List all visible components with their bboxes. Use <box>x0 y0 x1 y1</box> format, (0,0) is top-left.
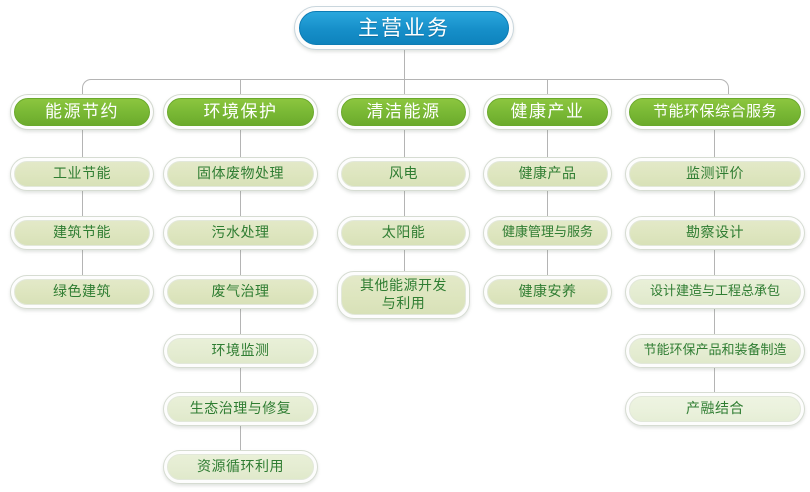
connector-root-stem <box>404 50 405 80</box>
connector-col-5-link-4 <box>714 308 715 335</box>
leaf-node-label: 固体废物处理 <box>167 161 314 187</box>
connector-col-1-link-1 <box>82 130 83 157</box>
root-node-main-business[interactable]: 主营业务 <box>294 6 514 50</box>
leaf-node-wind-power[interactable]: 风电 <box>337 157 470 191</box>
leaf-node-label: 其他能源开发 与利用 <box>341 275 466 315</box>
connector-col-1-link-3 <box>82 250 83 276</box>
connector-col-2-link-3 <box>240 250 241 276</box>
category-header-environment-protection[interactable]: 环境保护 <box>163 94 318 130</box>
leaf-node-label: 健康管理与服务 <box>487 220 608 246</box>
leaf-node-industrial-energy-saving[interactable]: 工业节能 <box>10 157 154 191</box>
leaf-node-health-management-service[interactable]: 健康管理与服务 <box>483 216 612 250</box>
connector-col-5-link-1 <box>714 130 715 157</box>
connector-col-5-link-3 <box>714 250 715 276</box>
connector-col-3-link-1 <box>404 130 405 157</box>
leaf-node-resource-recycling[interactable]: 资源循环利用 <box>163 450 318 484</box>
leaf-node-label: 绿色建筑 <box>14 279 150 305</box>
leaf-node-label: 资源循环利用 <box>167 454 314 480</box>
leaf-node-label: 节能环保产品和装备制造 <box>629 338 801 364</box>
connector-col-5-link-5 <box>714 366 715 393</box>
category-header-label: 环境保护 <box>167 98 314 126</box>
connector-col-1-link-2 <box>82 191 83 217</box>
category-header-label: 健康产业 <box>487 98 608 126</box>
leaf-node-ecological-restoration[interactable]: 生态治理与修复 <box>163 392 318 426</box>
leaf-node-label: 风电 <box>341 161 466 187</box>
leaf-node-solid-waste-treatment[interactable]: 固体废物处理 <box>163 157 318 191</box>
category-header-comprehensive-service[interactable]: 节能环保综合服务 <box>625 94 805 130</box>
connector-col-2-link-4 <box>240 308 241 335</box>
category-header-health-industry[interactable]: 健康产业 <box>483 94 612 130</box>
leaf-node-label: 污水处理 <box>167 220 314 246</box>
leaf-node-label: 健康安养 <box>487 279 608 305</box>
leaf-node-label: 监测评价 <box>629 161 801 187</box>
leaf-node-label: 建筑节能 <box>14 220 150 246</box>
category-header-label: 清洁能源 <box>341 98 466 126</box>
connector-col-5-link-2 <box>714 191 715 217</box>
category-header-energy-saving[interactable]: 能源节约 <box>10 94 154 130</box>
leaf-node-building-energy-saving[interactable]: 建筑节能 <box>10 216 154 250</box>
leaf-node-label: 健康产品 <box>487 161 608 187</box>
org-chart-canvas: 主营业务 能源节约 环境保护 清洁能源 健康产业 节能环保综合服务 工业节能 建… <box>0 0 810 492</box>
root-node-label: 主营业务 <box>299 11 509 45</box>
leaf-node-solar-energy[interactable]: 太阳能 <box>337 216 470 250</box>
connector-col-2-link-6 <box>240 424 241 451</box>
connector-col-2-link-1 <box>240 130 241 157</box>
leaf-node-monitoring-evaluation[interactable]: 监测评价 <box>625 157 805 191</box>
leaf-node-sewage-treatment[interactable]: 污水处理 <box>163 216 318 250</box>
leaf-node-industry-finance-integration[interactable]: 产融结合 <box>625 392 805 426</box>
connector-col-4-link-2 <box>547 191 548 217</box>
leaf-node-environmental-monitoring[interactable]: 环境监测 <box>163 334 318 368</box>
leaf-node-survey-design[interactable]: 勘察设计 <box>625 216 805 250</box>
category-header-label: 能源节约 <box>14 98 150 126</box>
connector-col-4-link-1 <box>547 130 548 157</box>
category-header-clean-energy[interactable]: 清洁能源 <box>337 94 470 130</box>
leaf-node-health-care[interactable]: 健康安养 <box>483 275 612 309</box>
leaf-node-label: 生态治理与修复 <box>167 396 314 422</box>
leaf-node-label: 产融结合 <box>629 396 801 422</box>
leaf-node-other-energy-development[interactable]: 其他能源开发 与利用 <box>337 271 470 319</box>
leaf-node-label: 太阳能 <box>341 220 466 246</box>
leaf-node-design-construction-epc[interactable]: 设计建造与工程总承包 <box>625 275 805 309</box>
leaf-node-green-building[interactable]: 绿色建筑 <box>10 275 154 309</box>
leaf-node-label: 废气治理 <box>167 279 314 305</box>
leaf-node-label: 设计建造与工程总承包 <box>629 279 801 305</box>
connector-col-2-link-5 <box>240 366 241 393</box>
leaf-node-health-products[interactable]: 健康产品 <box>483 157 612 191</box>
category-header-label: 节能环保综合服务 <box>629 98 801 126</box>
leaf-node-label: 勘察设计 <box>629 220 801 246</box>
connector-col-2-link-2 <box>240 191 241 217</box>
leaf-node-waste-gas-treatment[interactable]: 废气治理 <box>163 275 318 309</box>
leaf-node-label: 环境监测 <box>167 338 314 364</box>
leaf-node-equipment-manufacturing[interactable]: 节能环保产品和装备制造 <box>625 334 805 368</box>
leaf-node-label: 工业节能 <box>14 161 150 187</box>
connector-col-4-link-3 <box>547 250 548 276</box>
connector-col-3-link-2 <box>404 191 405 217</box>
connector-col-3-link-3 <box>404 250 405 271</box>
